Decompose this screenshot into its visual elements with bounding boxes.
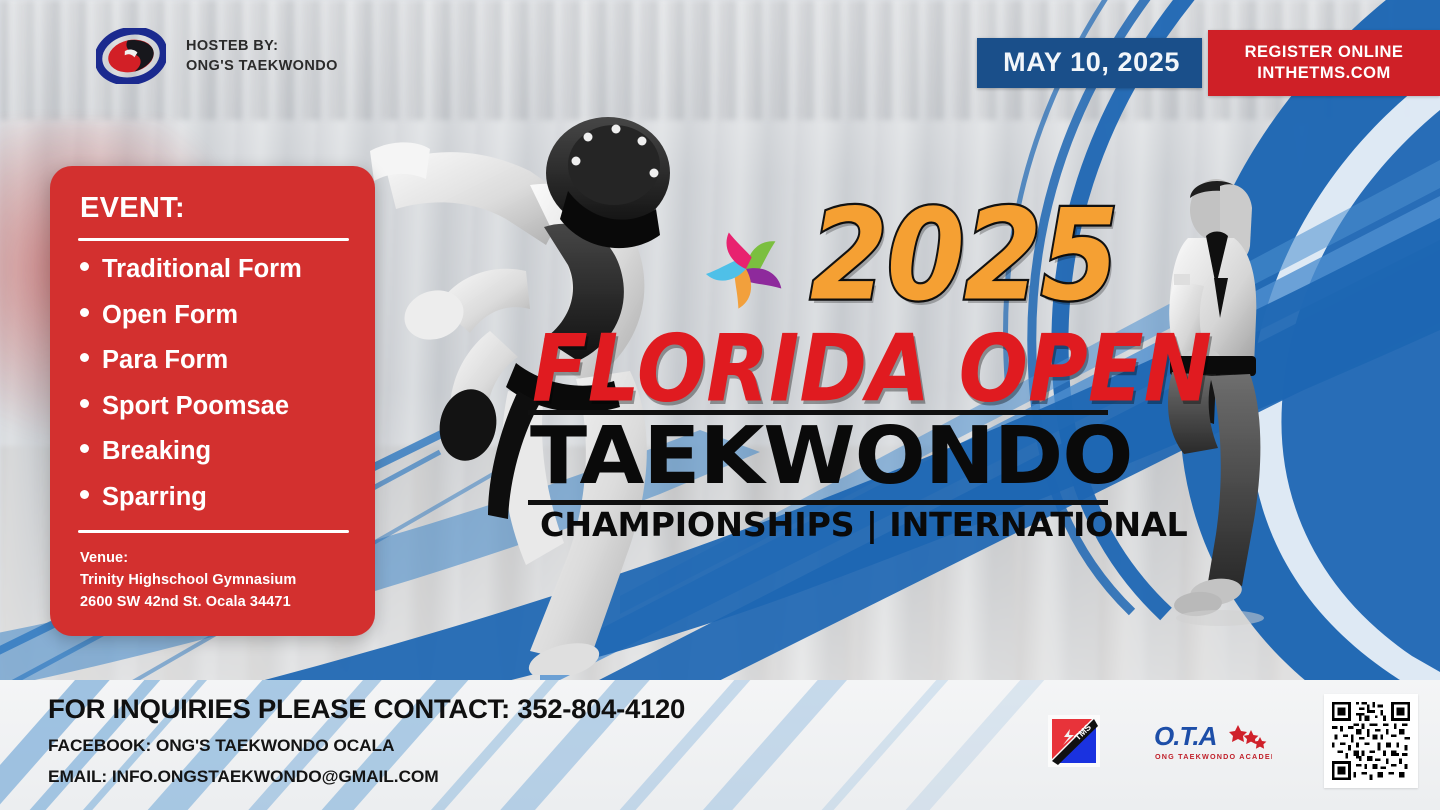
bullet-icon bbox=[80, 353, 89, 362]
divider-bottom bbox=[78, 530, 349, 533]
facebook-line: FACEBOOK: ONG'S TAEKWONDO OCALA bbox=[48, 737, 685, 754]
svg-text:ONG TAEKWONDO ACADEMY: ONG TAEKWONDO ACADEMY bbox=[1155, 752, 1272, 761]
poster-canvas: HOSTEB BY: ONG'S TAEKWONDO MAY 10, 2025 … bbox=[0, 0, 1440, 810]
year-2025: 2025 bbox=[810, 193, 1118, 318]
list-item: Open Form bbox=[76, 303, 349, 329]
event-item-label: Traditional Form bbox=[102, 257, 302, 283]
event-card-title: EVENT: bbox=[76, 192, 349, 225]
event-item-label: Para Form bbox=[102, 348, 228, 374]
event-list-card: EVENT: Traditional Form Open Form Para F… bbox=[50, 166, 375, 636]
event-item-label: Open Form bbox=[102, 303, 238, 329]
footer-logo-row: TMS O.T.A ONG TAEKWONDO ACADEMY bbox=[1048, 694, 1418, 788]
footer-bar: FOR INQUIRIES PLEASE CONTACT: 352-804-41… bbox=[0, 680, 1440, 810]
venue-address: 2600 SW 42nd St. Ocala 34471 bbox=[80, 591, 349, 613]
tms-logo-icon: TMS bbox=[1048, 715, 1100, 767]
svg-text:O.T.A: O.T.A bbox=[1154, 721, 1216, 751]
event-date-badge: MAY 10, 2025 bbox=[977, 38, 1202, 88]
event-item-label: Sport Poomsae bbox=[102, 394, 289, 420]
ota-logo-icon: O.T.A ONG TAEKWONDO ACADEMY bbox=[1152, 717, 1272, 765]
divider-top bbox=[78, 238, 349, 241]
list-item: Para Form bbox=[76, 348, 349, 374]
ong-taekwondo-emblem-icon bbox=[96, 28, 166, 84]
event-items-list: Traditional Form Open Form Para Form Spo… bbox=[76, 257, 349, 510]
qr-code-icon[interactable] bbox=[1324, 694, 1418, 788]
title-subtitle: CHAMPIONSHIPS | INTERNATIONAL bbox=[540, 508, 1188, 541]
host-name: ONG'S TAEKWONDO bbox=[186, 56, 338, 76]
list-item: Traditional Form bbox=[76, 257, 349, 283]
multicolor-pinwheel-people-icon bbox=[700, 223, 792, 315]
list-item: Sport Poomsae bbox=[76, 394, 349, 420]
venue-name: Trinity Highschool Gymnasium bbox=[80, 569, 349, 591]
event-item-label: Breaking bbox=[102, 439, 211, 465]
event-item-label: Sparring bbox=[102, 485, 207, 511]
contact-phone-line: FOR INQUIRIES PLEASE CONTACT: 352-804-41… bbox=[48, 696, 685, 723]
register-label: REGISTER ONLINE bbox=[1234, 42, 1414, 63]
host-block: HOSTEB BY: ONG'S TAEKWONDO bbox=[96, 28, 338, 84]
host-label: HOSTEB BY: bbox=[186, 36, 338, 56]
title-taekwondo: TAEKWONDO bbox=[530, 417, 1132, 496]
register-url: INTHETMS.COM bbox=[1234, 63, 1414, 84]
footer-contact-block: FOR INQUIRIES PLEASE CONTACT: 352-804-41… bbox=[48, 696, 673, 785]
venue-label: Venue: bbox=[80, 547, 349, 569]
bullet-icon bbox=[80, 399, 89, 408]
bullet-icon bbox=[80, 262, 89, 271]
register-online-badge[interactable]: REGISTER ONLINE INTHETMS.COM bbox=[1208, 30, 1440, 96]
email-line: EMAIL: INFO.ONGSTAEKWONDO@GMAIL.COM bbox=[48, 768, 685, 785]
bullet-icon bbox=[80, 308, 89, 317]
bullet-icon bbox=[80, 444, 89, 453]
list-item: Sparring bbox=[76, 485, 349, 511]
title-florida-open: FLORIDA OPEN bbox=[532, 323, 1212, 416]
list-item: Breaking bbox=[76, 439, 349, 465]
bullet-icon bbox=[80, 490, 89, 499]
venue-block: Venue: Trinity Highschool Gymnasium 2600… bbox=[76, 547, 349, 614]
